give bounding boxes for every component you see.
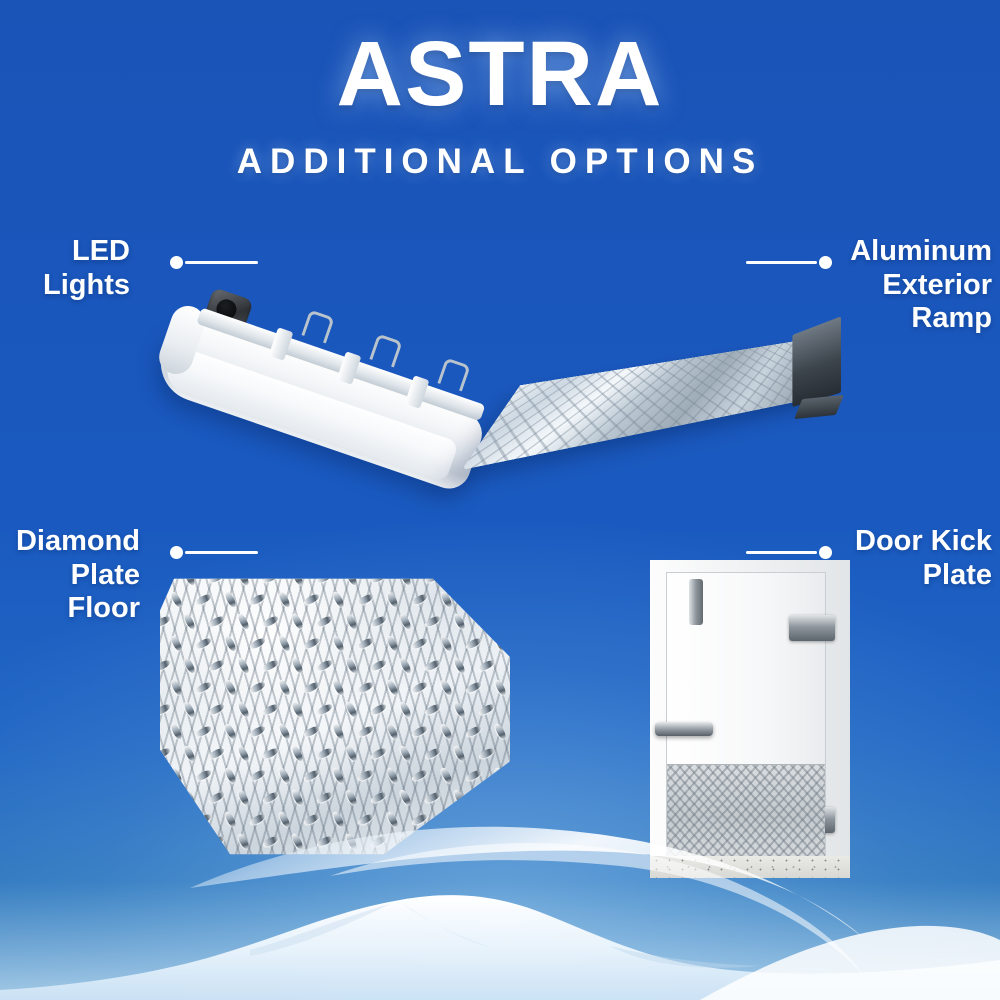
leader-bar-icon <box>746 551 817 554</box>
ramp-end-panel <box>792 316 841 407</box>
leader-line-diamond-plate-floor <box>170 545 258 559</box>
leader-dot-icon <box>170 546 183 559</box>
product-image-led-light-fixture <box>155 265 515 445</box>
page-title: ASTRA <box>0 28 1000 120</box>
led-wire-guard <box>301 310 334 344</box>
leader-line-door-kick-plate <box>746 545 832 559</box>
leader-bar-icon <box>185 261 258 264</box>
leader-line-aluminum-ramp <box>746 255 832 269</box>
product-image-aluminum-ramp <box>515 270 845 425</box>
led-lens <box>162 345 459 482</box>
callout-label-aluminum-exterior-ramp: Aluminum Exterior Ramp <box>838 235 992 336</box>
poster-canvas: ASTRA ADDITIONAL OPTIONS LED Lights Alum… <box>0 0 1000 1000</box>
leader-bar-icon <box>746 261 817 264</box>
leader-bar-icon <box>185 551 258 554</box>
header: ASTRA ADDITIONAL OPTIONS <box>0 28 1000 179</box>
led-wire-guard <box>369 334 402 368</box>
callout-label-led-lights: LED Lights <box>10 235 130 302</box>
door-hinge-upper <box>789 615 835 641</box>
callout-label-door-kick-plate: Door Kick Plate <box>838 525 992 592</box>
led-wire-guard <box>437 358 470 392</box>
ramp-tread-surface <box>461 341 815 470</box>
leader-dot-icon <box>819 256 832 269</box>
door-handle <box>655 722 713 736</box>
page-subtitle: ADDITIONAL OPTIONS <box>0 144 1000 179</box>
callout-label-diamond-plate-floor: Diamond Plate Floor <box>0 525 140 626</box>
leader-dot-icon <box>819 546 832 559</box>
snow-mountain-ice-graphic <box>0 790 1000 1000</box>
door-safety-latch <box>689 579 703 625</box>
